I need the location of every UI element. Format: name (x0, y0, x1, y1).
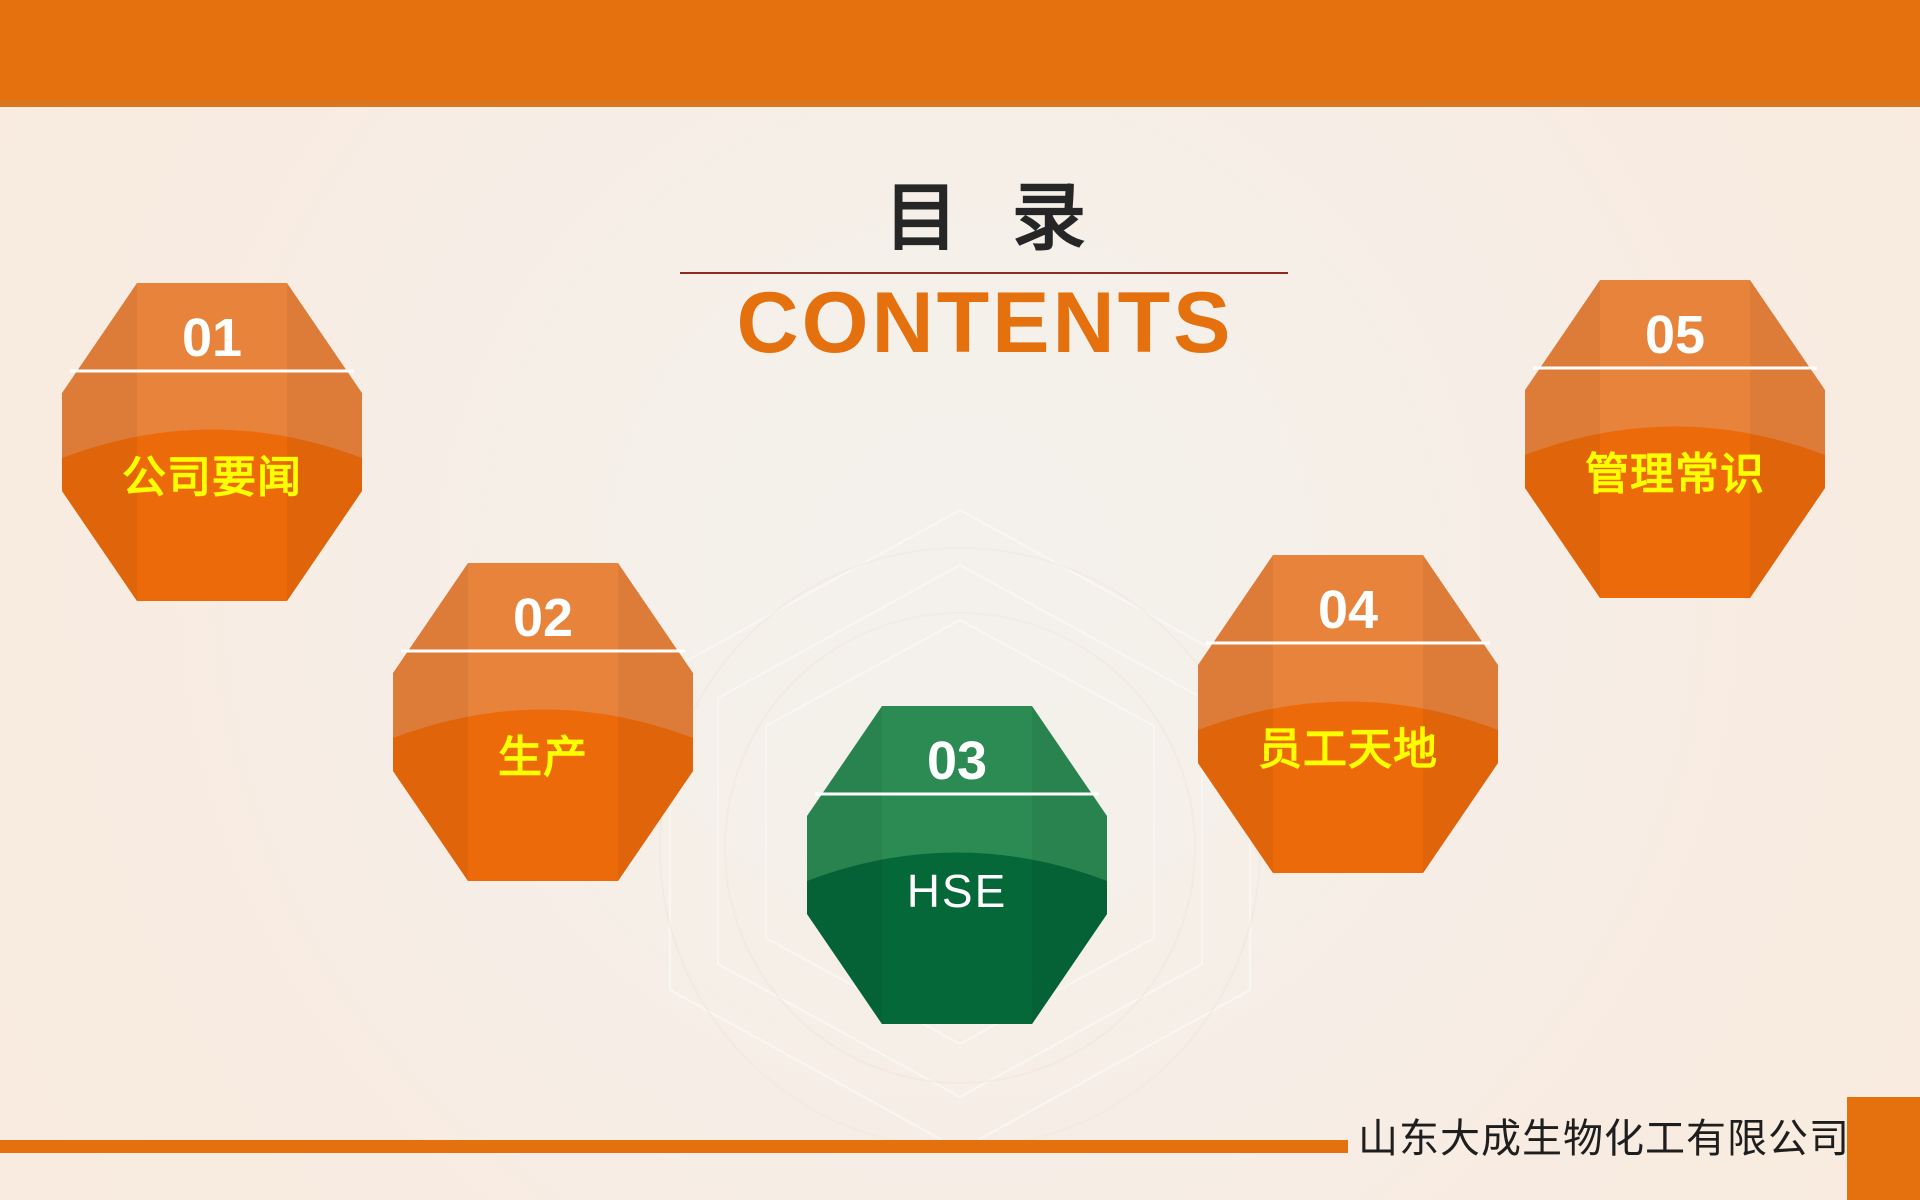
agenda-item-04[interactable]: 04 员工天地 (1198, 555, 1498, 873)
page-title-block: 目 录 CONTENTS (680, 180, 1290, 366)
footer-accent-bar (0, 1140, 1348, 1153)
top-accent-bar (0, 0, 1920, 107)
agenda-item-03[interactable]: 03 HSE (807, 706, 1107, 1024)
footer-company-name: 山东大成生物化工有限公司 (1358, 1106, 1850, 1164)
hexagon-shape-03 (807, 706, 1107, 1024)
top-accent-bar-edge (0, 100, 1920, 107)
agenda-item-02[interactable]: 02 生产 (393, 563, 693, 881)
slide-canvas: 目 录 CONTENTS 01 公司要闻 (0, 0, 1920, 1200)
hexagon-shape-02 (393, 563, 693, 881)
hexagon-shape-01 (62, 283, 362, 601)
page-title-english: CONTENTS (680, 280, 1290, 366)
hexagon-shape-05 (1525, 280, 1825, 598)
hexagon-shape-04 (1198, 555, 1498, 873)
footer-accent-square (1847, 1097, 1920, 1200)
page-title-chinese: 目 录 (694, 180, 1290, 258)
agenda-item-05[interactable]: 05 管理常识 (1525, 280, 1825, 598)
title-divider-rule (680, 272, 1288, 274)
agenda-item-01[interactable]: 01 公司要闻 (62, 283, 362, 601)
